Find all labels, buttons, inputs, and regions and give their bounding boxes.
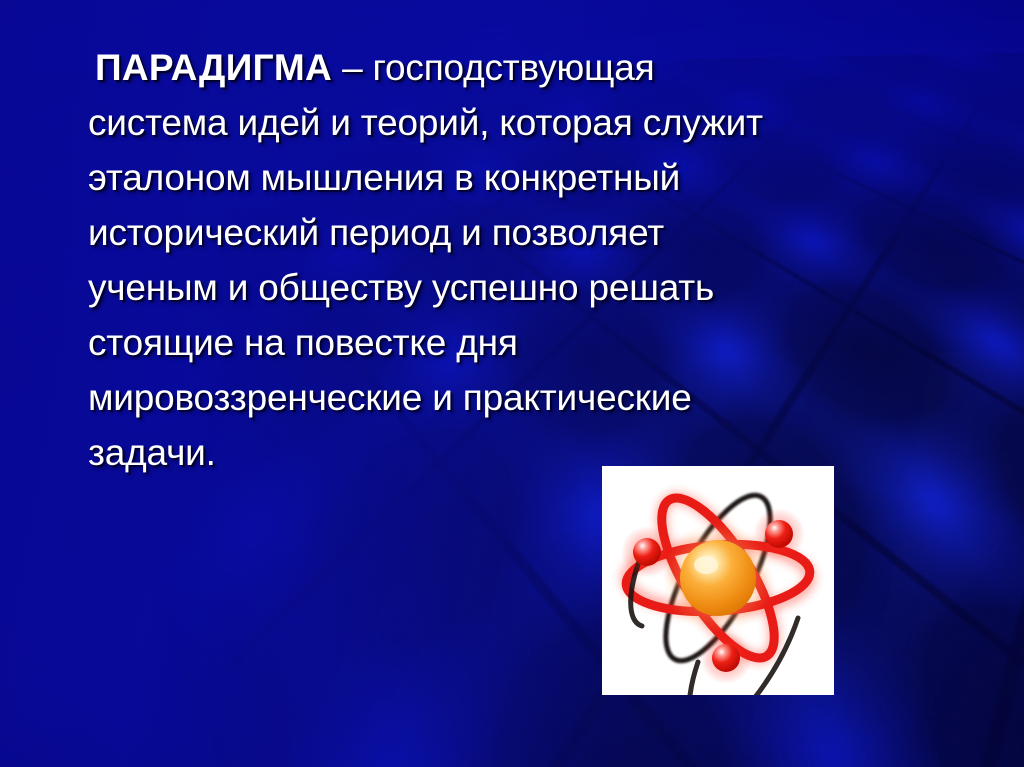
text-line-4: исторический период и позволяет: [88, 205, 968, 260]
text-line-2: система идей и теорий, которая служит: [88, 95, 968, 150]
atom-svg: [602, 466, 834, 695]
electron-top-right: [753, 508, 805, 560]
electron-left: [621, 526, 673, 578]
text-line-5: ученым и обществу успешно решать: [88, 260, 968, 315]
text-line-7: мировоззренческие и практические: [88, 370, 968, 425]
lead-term: ПАРАДИГМА: [95, 47, 332, 88]
text-line-8: задачи.: [88, 425, 968, 480]
text-line-1: ПАРАДИГМА – господствующая: [88, 40, 968, 95]
atom-illustration: [602, 466, 834, 695]
text-line-1-rest: – господствующая: [332, 47, 654, 88]
presentation-slide: ПАРАДИГМА – господствующая система идей …: [0, 0, 1024, 767]
text-line-3: эталоном мышления в конкретный: [88, 150, 968, 205]
text-line-6: стоящие на повестке дня: [88, 315, 968, 370]
electron-bottom: [700, 632, 752, 684]
slide-text-block: ПАРАДИГМА – господствующая система идей …: [88, 40, 968, 480]
